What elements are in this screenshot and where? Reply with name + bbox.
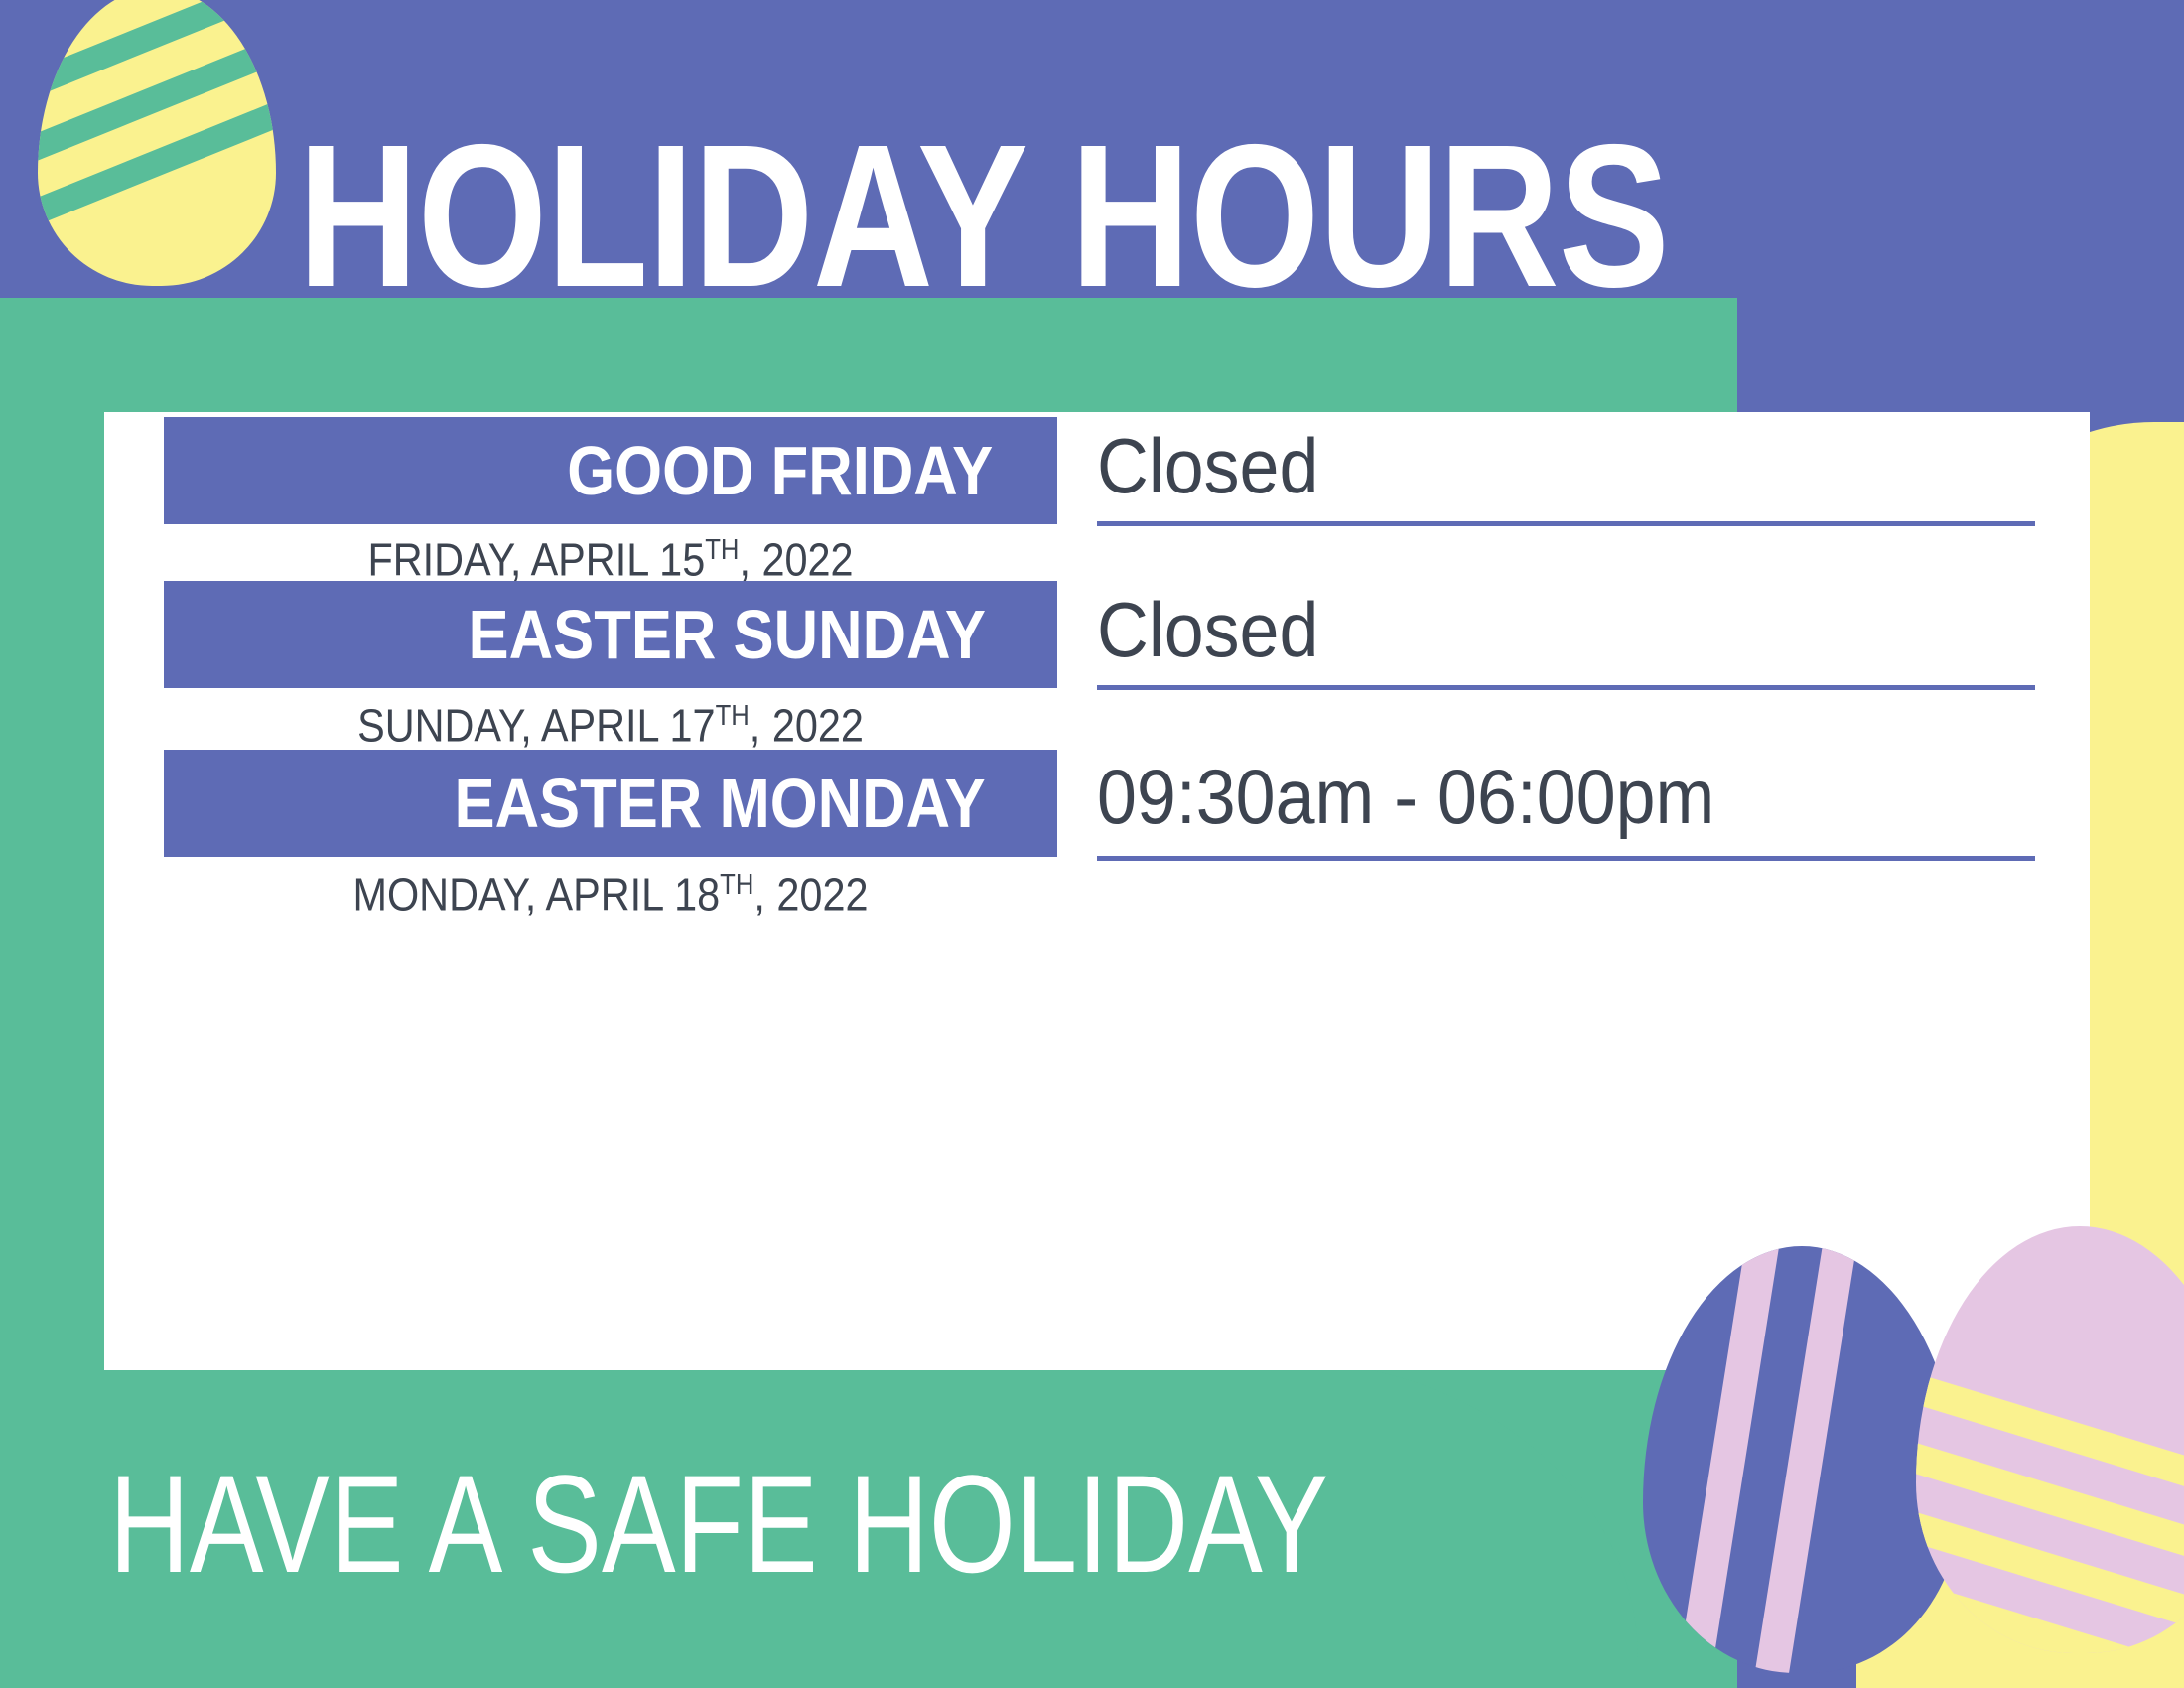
holiday-hours-value: Closed <box>1097 591 1318 668</box>
hours-underline <box>1097 685 2035 690</box>
easter-egg-yellow-icon <box>38 0 276 286</box>
holiday-name: EASTER MONDAY <box>454 769 985 838</box>
footer-message: HAVE A SAFE HOLIDAY <box>109 1455 1328 1594</box>
holiday-date: FRIDAY, APRIL 15TH, 2022 <box>208 536 1013 582</box>
holiday-hours-value: 09:30am - 06:00pm <box>1097 758 1714 835</box>
holiday-name: GOOD FRIDAY <box>567 436 993 505</box>
hours-underline <box>1097 521 2035 526</box>
holiday-name: EASTER SUNDAY <box>469 600 986 669</box>
holiday-name-bar: GOOD FRIDAY <box>164 417 1057 524</box>
holiday-name-bar: EASTER SUNDAY <box>164 581 1057 688</box>
hours-underline <box>1097 856 2035 861</box>
holiday-hours-poster: HOLIDAY HOURS GOOD FRIDAY FRIDAY, APRIL … <box>0 0 2184 1688</box>
holiday-hours-value: Closed <box>1097 427 1318 504</box>
holiday-date: MONDAY, APRIL 18TH, 2022 <box>208 871 1013 916</box>
holiday-name-bar: EASTER MONDAY <box>164 750 1057 857</box>
holiday-date: SUNDAY, APRIL 17TH, 2022 <box>208 702 1013 748</box>
page-title: HOLIDAY HOURS <box>298 114 1669 318</box>
schedule-card: GOOD FRIDAY FRIDAY, APRIL 15TH, 2022 Clo… <box>104 412 2090 1370</box>
